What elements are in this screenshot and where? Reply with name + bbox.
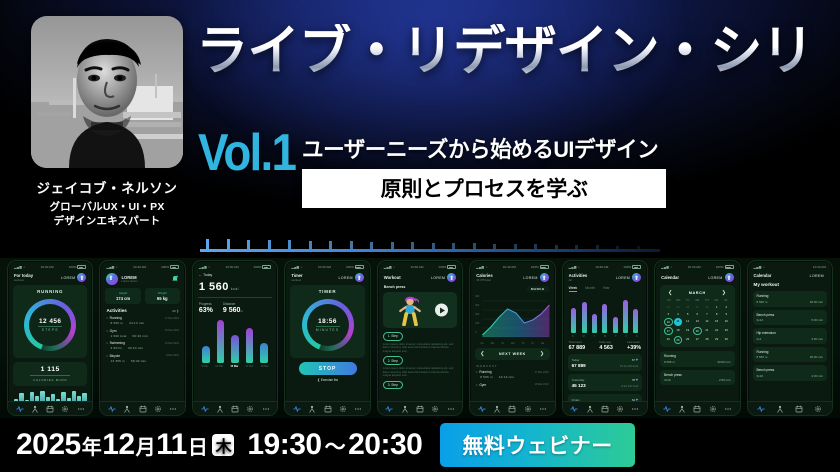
status-time: 10:30 AM [226, 265, 239, 269]
step-chip[interactable]: 3. Step [383, 381, 403, 389]
ruler-tick [493, 244, 496, 249]
log-bpm: 67 ♥ [632, 357, 638, 362]
summary-row: Progress 63% Distance 9 560m [198, 302, 272, 317]
chart-x-labels: SuMoTuWeThFrSa [475, 341, 549, 345]
status-bar: ▂▄▆ ⌁ 10:30 AM 100% [105, 265, 179, 272]
log-day: Yesterday [572, 378, 585, 382]
gear-icon[interactable] [246, 405, 254, 413]
weekday-label: TU [683, 299, 693, 302]
calendar-day[interactable]: 9 [722, 311, 730, 317]
calendar-day[interactable]: 24 [664, 304, 672, 310]
ruler-decoration [200, 236, 660, 252]
person-icon[interactable] [401, 405, 409, 413]
activity-values: 8 566 m44:13 min [106, 321, 178, 325]
calendar-day[interactable]: 17 [664, 327, 672, 335]
calendar-day[interactable]: 8 [712, 311, 720, 317]
workout-values: 3x102:50 min [664, 378, 730, 382]
axis-tick: M [583, 335, 585, 338]
bar [571, 308, 576, 333]
calendar-day[interactable]: 5 [683, 311, 691, 317]
y-tick: 200 [475, 313, 479, 316]
calendar-day[interactable]: 1 [712, 304, 720, 310]
kcal-value: 1 560 [199, 281, 229, 293]
bottom-nav[interactable] [285, 401, 369, 415]
tab-week[interactable]: Week [569, 286, 578, 292]
prev-arrow-icon[interactable]: ❮ [480, 351, 485, 357]
activity-icon[interactable] [201, 405, 209, 413]
avatar[interactable] [447, 273, 456, 282]
user-name: LOREM [431, 276, 445, 280]
screen-subtitle: workout [14, 279, 33, 282]
axis-tick: 12 Mar [215, 365, 223, 368]
ruler-tick [247, 240, 250, 249]
summary-stats: Total steps67 889Daily avg4 563Last week… [568, 338, 642, 354]
daily-bar-chart [198, 317, 272, 363]
person-icon[interactable] [123, 405, 131, 413]
avatar[interactable] [725, 273, 734, 282]
workout-list: Running8 566 m30:00 minBench press3x102:… [660, 351, 734, 385]
phone-mockup-profile[interactable]: ▂▄▆ ⌁ 10:30 AM 100% LOREM Lorem ipsum He… [99, 260, 185, 416]
calendar-day[interactable]: 21 [703, 327, 711, 335]
bottom-nav[interactable] [8, 401, 92, 415]
more-icon[interactable] [631, 405, 639, 413]
calendar-day[interactable]: 7 [703, 311, 711, 317]
phone-mockup-workout[interactable]: ▂▄▆ ⌁ 10:30 AM 100% Workout LOREM Bench … [377, 260, 463, 416]
stat-value: 4 563 [599, 345, 613, 351]
month-value: 12 [102, 428, 134, 462]
calendar-day[interactable]: 25 [674, 304, 682, 310]
person-icon[interactable] [31, 405, 39, 413]
calendar-day[interactable]: 18 [674, 327, 682, 335]
step-text: Lorem ipsum dolor sit amet, consectetur … [383, 343, 457, 354]
calendar-day[interactable]: 15 [712, 318, 720, 326]
progress-label: Progress [199, 302, 213, 306]
calendar-day[interactable]: 6 [693, 311, 701, 317]
calendar-icon[interactable] [139, 405, 147, 413]
more-icon[interactable] [724, 405, 732, 413]
calendar-day[interactable]: 26 [683, 304, 691, 310]
step-text: Lorem ipsum dolor sit amet, consectetur … [383, 367, 457, 378]
activity-list: Running17 Mar 20198 566 m44:13 minGym16 … [475, 370, 549, 391]
stat-value: 65 kg [149, 296, 176, 301]
calendar-day[interactable]: 30 [722, 336, 730, 344]
activity-date: 16 Mar 2019 [165, 329, 179, 332]
phone-mockup-activities[interactable]: ▂▄▆ ⌁ 10:30 AM 100% Activities All LOREM… [562, 260, 648, 416]
day-value: 11 [156, 428, 187, 462]
workout-item[interactable]: Running8 566 m30:00 min [753, 291, 827, 307]
list-item[interactable]: Swimming13 Mar 20193 667m30:10 min [105, 341, 179, 354]
activity-icon[interactable] [293, 405, 301, 413]
list-item[interactable]: Running17 Mar 20198 566 m44:13 min [475, 370, 549, 383]
calories-card: 1 115 CALORIES BURN [13, 362, 87, 386]
ruler-tick [288, 240, 291, 249]
activity-icon[interactable] [108, 405, 116, 413]
calories-area-chart: 4003002001000 [475, 293, 549, 341]
calendar-day[interactable]: 27 [693, 304, 701, 310]
weekday-label: TH [702, 299, 712, 302]
calendar-icon[interactable] [46, 405, 54, 413]
hero-section: ジェイコブ・ネルソン グローバルUX・UI・PX デザインエキスパート ライブ・… [0, 0, 840, 258]
calendar-day[interactable]: 24 [664, 336, 672, 344]
log-bpm: 78 ♥ [632, 377, 638, 382]
person-icon[interactable] [776, 405, 784, 413]
stat-label: Height [109, 291, 136, 295]
bottom-nav[interactable] [748, 401, 832, 415]
calendar-day[interactable]: 4 [674, 311, 682, 317]
person-icon[interactable] [678, 405, 686, 413]
step-chip[interactable]: 1. Step [383, 332, 403, 340]
log-row[interactable]: Today67 ♥67 88915 km 234 kcal [568, 354, 642, 371]
see-all-link[interactable]: All ❯ [172, 309, 179, 313]
bottom-nav[interactable] [100, 401, 184, 415]
axis-tick: 17 Mar [246, 365, 254, 368]
workout-values: 8 566 m30:00 min [757, 300, 823, 304]
phone-mockup-today[interactable]: ▂▄▆ ⌁ 10:30 AM 100% ← Today 1 560kcal Pr… [192, 260, 278, 416]
section-title: Activities [106, 308, 126, 313]
bar [202, 346, 210, 363]
calendar-day[interactable]: 12 [683, 318, 691, 326]
workout-values: 8 566 m30:00 min [664, 360, 730, 364]
activity-icon[interactable] [16, 405, 24, 413]
activity-date: 9 Mar 2019 [166, 354, 179, 357]
calendar-day[interactable]: 22 [712, 327, 720, 335]
battery-icon [540, 265, 549, 269]
exercise-list-link[interactable]: ❮ Exercise list [290, 378, 364, 382]
activity-icon[interactable] [570, 405, 578, 413]
screen-header: For today workout LOREM [13, 272, 87, 285]
gear-icon[interactable] [431, 405, 439, 413]
ruler-baseline [200, 249, 660, 252]
weekday-label: FR [712, 299, 721, 302]
avatar[interactable] [106, 273, 118, 285]
workout-name: Bench press [757, 313, 823, 317]
timer-unit: MINUTES [316, 328, 340, 332]
activity-icon[interactable] [385, 405, 393, 413]
volume-label: Vol.1 [198, 128, 295, 178]
status-bar: ▂▄▆ ⌁ 10:30 AM [753, 265, 827, 272]
status-time: 10:30 AM [410, 265, 423, 269]
screen-subtitle: 16 375 kcal [476, 279, 493, 282]
status-battery: 100% [346, 265, 364, 269]
bottom-nav[interactable] [655, 401, 739, 415]
next-arrow-icon[interactable]: ❯ [540, 351, 545, 357]
workout-item[interactable]: Bench press3x104:30 min [753, 365, 827, 381]
speaker-role-line1: グローバルUX・UI・PX [22, 201, 192, 215]
heart-icon: ♥ [636, 357, 638, 362]
steps-progress-ring: 12 456 STEPS [24, 299, 76, 351]
next-week-nav[interactable]: ❮ NEXT WEEK ❯ [475, 348, 549, 360]
more-icon[interactable] [169, 405, 177, 413]
activity-values: 8 566 m44:13 min [476, 375, 548, 379]
calendar-day[interactable]: 26 [683, 336, 691, 344]
signal-icon: ▂▄▆ ⌁ [754, 265, 766, 269]
title-wrap: ライブ・リデザイン・シリーズ [196, 24, 826, 78]
signal-icon: ▂▄▆ ⌁ [661, 265, 673, 269]
axis-tick: 9 Mar [202, 365, 208, 368]
calendar-icon[interactable] [508, 405, 516, 413]
avatar[interactable] [355, 273, 364, 282]
phone-mockup-calendar[interactable]: ▂▄▆ ⌁ 10:30 AM 100% Calendar LOREM ❮ MAR… [654, 260, 740, 416]
calendar-grid[interactable]: 2425262728123456789101112131415161718192… [664, 304, 730, 345]
log-row[interactable]: Yesterday78 ♥45 1238 km 167 kcal [568, 374, 642, 391]
prev-month-icon[interactable]: ❮ [668, 290, 673, 296]
daily-chart-axis: 9 Mar12 Mar15 Mar17 Mar19 Mar [198, 363, 272, 368]
stat-item: Daily avg4 563 [599, 340, 613, 351]
bottom-nav[interactable] [563, 401, 647, 415]
calendar-icon[interactable] [324, 405, 332, 413]
list-item[interactable]: Bicycle9 Mar 201913 355 m59:40 min [105, 354, 179, 367]
period-tabs[interactable]: WeekMonthYear [568, 285, 642, 295]
y-tick: 100 [475, 322, 479, 325]
avatar[interactable] [632, 273, 641, 282]
weekday-badge: 木 [212, 434, 234, 456]
kcal-unit: kcal [231, 287, 239, 291]
gear-icon[interactable] [616, 405, 624, 413]
more-icon[interactable] [447, 405, 455, 413]
calendar-day[interactable]: 14 [703, 318, 711, 326]
bottom-nav[interactable] [470, 401, 554, 415]
activity-icon[interactable] [478, 405, 486, 413]
calendar-day[interactable]: 11 [674, 318, 682, 326]
gear-icon[interactable] [61, 405, 69, 413]
more-icon[interactable] [77, 405, 85, 413]
calendar-day[interactable]: 16 [722, 318, 730, 326]
signal-icon: ▂▄▆ ⌁ [14, 265, 26, 269]
workout-values: 3x104:30 min [757, 374, 823, 378]
user-name: LOREM [523, 276, 537, 280]
calendar-day[interactable]: 10 [664, 318, 672, 326]
ruler-tick [411, 242, 414, 249]
gear-icon[interactable] [339, 405, 347, 413]
phone-mockup-calories[interactable]: ▂▄▆ ⌁ 10:30 AM 100% Calories 16 375 kcal… [469, 260, 555, 416]
status-time: 10:30 AM [813, 265, 826, 269]
tab-month[interactable]: Month [585, 286, 594, 292]
ruler-tick [452, 243, 455, 249]
speaker-role-line2: デザインエキスパート [22, 215, 192, 229]
calendar-day[interactable]: 13 [693, 318, 701, 326]
workout-item[interactable]: Bench press3x102:50 min [660, 370, 734, 386]
signal-icon: ▂▄▆ ⌁ [291, 265, 303, 269]
screen-header: Workout LOREM [383, 272, 457, 285]
list-item[interactable]: Gym16 Mar 20191 600 kcal60:20 min [105, 329, 179, 342]
webinar-banner: ジェイコブ・ネルソン グローバルUX・UI・PX デザインエキスパート ライブ・… [0, 0, 840, 472]
workout-item[interactable]: Running8 566 m30:00 min [660, 351, 734, 367]
axis-tick: T [594, 335, 596, 338]
workout-name: Bench press [757, 368, 823, 372]
axis-tick: W [604, 335, 606, 338]
main-title: ライブ・リデザイン・シリーズ [196, 24, 807, 78]
activity-icon[interactable] [663, 405, 671, 413]
status-bar: ▂▄▆ ⌁ 10:30 AM 100% [383, 265, 457, 272]
calendar-day[interactable]: 3 [664, 311, 672, 317]
status-bar: ▂▄▆ ⌁ 10:30 AM 100% [568, 265, 642, 272]
gear-icon[interactable] [709, 405, 717, 413]
battery-icon [632, 265, 641, 269]
bar [623, 300, 628, 333]
workout-list: Running8 566 m30:00 minBench press3x125:… [753, 291, 827, 381]
x-tick: Su [481, 342, 484, 345]
workout-item[interactable]: Bench press3x125:00 min [753, 310, 827, 326]
free-webinar-badge: 無料ウェビナー [440, 423, 635, 467]
progress-stat: Progress 63% [199, 302, 213, 314]
weekday-label: WE [693, 299, 702, 302]
ruler-tick [575, 245, 578, 249]
ruler-tick [227, 239, 230, 249]
speaker-block: ジェイコブ・ネルソン グローバルUX・UI・PX デザインエキスパート [22, 16, 192, 229]
activity-date: 17 Mar 2019 [535, 371, 549, 374]
calories-label: CALORIES BURN [18, 378, 82, 382]
gear-icon[interactable] [524, 405, 532, 413]
avatar[interactable] [77, 273, 86, 282]
person-icon[interactable] [216, 405, 224, 413]
list-item[interactable]: Gym16 Mar 2019 [475, 383, 549, 392]
status-time: 10:30 AM [688, 265, 701, 269]
screen-header: Calories 16 375 kcal LOREM [475, 272, 549, 285]
bottom-nav[interactable] [193, 401, 277, 415]
person-icon[interactable] [308, 405, 316, 413]
calendar-day[interactable]: 20 [693, 327, 701, 335]
list-item[interactable]: Running17 Mar 20198 566 m44:13 min [105, 316, 179, 329]
y-tick: 400 [475, 295, 479, 298]
status-time: 10:30 AM [41, 265, 54, 269]
gear-icon[interactable] [154, 405, 162, 413]
axis-tick: F [626, 335, 628, 338]
person-icon[interactable] [493, 405, 501, 413]
status-bar: ▂▄▆ ⌁ 10:30 AM 100% [290, 265, 364, 272]
next-month-icon[interactable]: ❯ [722, 290, 727, 296]
step-chip[interactable]: 2. Step [383, 356, 403, 364]
status-time: 10:30 AM [595, 265, 608, 269]
calendar-icon[interactable] [416, 405, 424, 413]
workout-name: Running [757, 294, 823, 298]
phone-mockup-running[interactable]: ▂▄▆ ⌁ 10:30 AM 100% For today workout LO… [7, 260, 93, 416]
signal-icon: ▂▄▆ ⌁ [569, 265, 581, 269]
status-time: 10:30 AM [133, 265, 146, 269]
more-icon[interactable] [262, 405, 270, 413]
avatar[interactable] [540, 273, 549, 282]
calendar-day[interactable]: 25 [674, 336, 682, 344]
calendar-day[interactable]: 23 [722, 327, 730, 335]
stat-value: 174 cm [109, 296, 136, 301]
activity-icon[interactable] [757, 405, 765, 413]
subtitle-column: ユーザーニーズから始めるUIデザイン 原則とプロセスを学ぶ [302, 128, 665, 208]
gear-icon[interactable] [814, 405, 822, 413]
phone-mockup-my-workout[interactable]: ▂▄▆ ⌁ 10:30 AM Calendar LOREM My workout… [747, 260, 833, 416]
weekday-label: MO [674, 299, 683, 302]
bar [217, 320, 225, 363]
log-meta: 8 km 167 kcal [621, 385, 638, 388]
screen-header: Activities All LOREM [568, 272, 642, 285]
play-button[interactable] [435, 304, 448, 317]
calendar-icon[interactable] [795, 405, 803, 413]
calendar-day[interactable]: 19 [683, 327, 691, 335]
stat-value: 67 889 [569, 345, 586, 351]
calendar-day[interactable]: 27 [693, 336, 701, 344]
workout-name: Hip extension [757, 331, 823, 335]
heart-icon: ♥ [636, 377, 638, 382]
ruler-tick [534, 244, 537, 249]
calendar-month-nav[interactable]: ❮ MARCH ❯ [664, 288, 730, 299]
time-end: 20:30 [348, 428, 422, 461]
calendar-day[interactable]: 2 [722, 304, 730, 310]
stat-item: Last week+39% [627, 340, 641, 351]
exercise-illustration [395, 296, 425, 326]
exercise-video-thumbnail[interactable] [383, 292, 457, 328]
log-meta: 15 km 234 kcal [620, 365, 638, 368]
battery-icon [77, 265, 86, 269]
ruler-tick [329, 241, 332, 249]
x-tick: Mo [491, 342, 494, 345]
year-value: 2025 [16, 428, 81, 462]
calendar-day[interactable]: 28 [703, 336, 711, 344]
speaker-role: グローバルUX・UI・PX デザインエキスパート [22, 201, 192, 229]
more-icon[interactable] [354, 405, 362, 413]
phone-mockup-timer[interactable]: ▂▄▆ ⌁ 10:30 AM 100% Timer workout LOREM … [284, 260, 370, 416]
status-battery: 100% [438, 265, 456, 269]
bell-icon[interactable] [171, 275, 179, 283]
activity-list: Running17 Mar 20198 566 m44:13 minGym16 … [105, 316, 179, 366]
activity-date: 16 Mar 2019 [535, 383, 549, 386]
activity-name: Gym [106, 329, 116, 333]
status-battery: 100% [161, 265, 179, 269]
activity-name: Gym [476, 383, 486, 387]
screen-subtitle: Lorem ipsum [121, 280, 137, 283]
calendar-icon[interactable] [231, 405, 239, 413]
stat-label: Daily avg [599, 340, 613, 344]
more-icon[interactable] [539, 405, 547, 413]
person-icon[interactable] [586, 405, 594, 413]
speaker-portrait [31, 16, 183, 168]
subtitle-highlight-bar: 原則とプロセスを学ぶ [302, 169, 665, 208]
workout-values: 3x125:00 min [757, 318, 823, 322]
distance-label: Distance [223, 302, 243, 306]
activity-date: 17 Mar 2019 [165, 317, 179, 320]
steps-value: 12 456 [38, 318, 62, 325]
workout-name: Running [664, 354, 730, 358]
bar [582, 302, 587, 334]
tab-year[interactable]: Year [603, 286, 610, 292]
stop-button[interactable]: STOP [299, 362, 357, 375]
weekday-label: SU [664, 299, 673, 302]
workout-item[interactable]: Running8 566 m30:00 min [753, 347, 827, 363]
status-time: 10:30 AM [503, 265, 516, 269]
stat-label: Last week [627, 340, 641, 344]
activity-date: 13 Mar 2019 [165, 342, 179, 345]
activity-name: Running [476, 370, 491, 374]
ruler-tick [432, 243, 435, 249]
calendar-icon[interactable] [693, 405, 701, 413]
ruler-tick [596, 245, 599, 249]
day-unit: 日 [188, 431, 208, 460]
calendar-day[interactable]: 28 [703, 304, 711, 310]
weekday-label: SA [721, 299, 731, 302]
x-tick: We [511, 342, 515, 345]
screen-header: Calendar LOREM [660, 272, 734, 285]
distance-value: 9 560m [223, 307, 243, 314]
ruler-tick [473, 243, 476, 249]
stat-item: Total steps67 889 [569, 340, 586, 351]
stat-label: Total steps [569, 340, 586, 344]
y-tick: 0 [475, 331, 476, 334]
bottom-nav[interactable] [378, 401, 462, 415]
back-link[interactable]: ← Today [198, 272, 272, 280]
workout-values: 8 566 m30:00 min [757, 355, 823, 359]
workout-item[interactable]: Hip extension2x14:00 min [753, 328, 827, 344]
ruler-tick [391, 242, 394, 249]
calendar-icon[interactable] [601, 405, 609, 413]
calendar-day[interactable]: 29 [712, 336, 720, 344]
bar [246, 328, 254, 362]
